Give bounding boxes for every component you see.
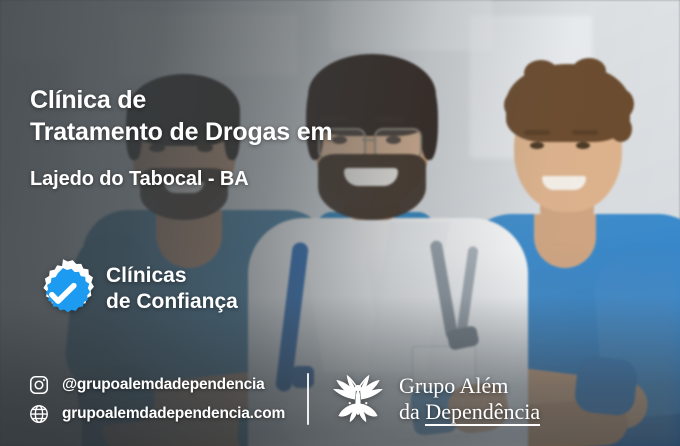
brand-line2-prefix: da <box>399 399 425 424</box>
butterfly-logo-icon <box>327 370 389 428</box>
trust-badge-block: Clínicas de Confiança <box>32 258 238 320</box>
instagram-contact-row[interactable]: @grupoalemdadependencia <box>28 374 285 396</box>
globe-icon <box>28 403 50 425</box>
promo-banner: Clínica de Tratamento de Drogas em Lajed… <box>0 0 680 446</box>
brand-name-line2: da Dependência <box>399 399 540 425</box>
instagram-handle: @grupoalemdadependencia <box>62 376 265 394</box>
trust-badge-label: Clínicas de Confiança <box>106 263 238 314</box>
website-url: grupoalemdadependencia.com <box>62 405 285 423</box>
footer-divider <box>307 373 309 425</box>
brand-name-line1: Grupo Além <box>399 373 540 399</box>
page-title: Clínica de Tratamento de Drogas em <box>30 84 332 148</box>
brand-lockup: Grupo Além da Dependência <box>327 370 540 428</box>
brand-line2-underlined: Dependência <box>425 399 540 426</box>
footer: @grupoalemdadependencia grupoalemdadepen… <box>28 370 540 428</box>
website-contact-row[interactable]: grupoalemdadependencia.com <box>28 403 285 425</box>
location-subtitle: Lajedo do Tabocal - BA <box>30 168 249 191</box>
verified-check-badge-icon <box>32 258 94 320</box>
instagram-icon <box>28 374 50 396</box>
